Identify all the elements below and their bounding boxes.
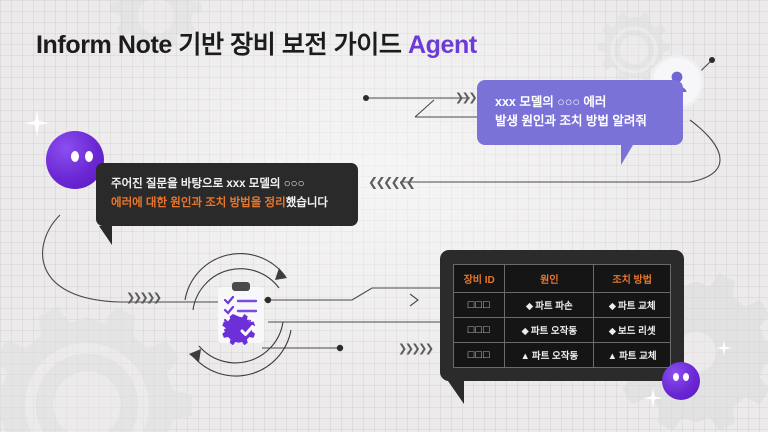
cause-text: 파트 파손 [535, 301, 573, 312]
agent-message-tail-text: 했습니다 [286, 197, 328, 209]
cause-text: 파트 오작동 [532, 351, 578, 362]
agent-message-highlight: 에러에 대한 원인과 조치 방법을 정리 [111, 197, 286, 209]
agent-message-line-1: 주어진 질문을 바탕으로 xxx 모델의 ○○○ [111, 175, 344, 194]
chevron-right-icon: ❯❯❯❯❯ [126, 292, 160, 303]
user-message-bubble: xxx 모델의 ○○○ 에러 발생 원인과 조치 방법 알려줘 [477, 80, 683, 145]
agent-orb-small [662, 362, 700, 400]
cell-action: ▲파트 교체 [594, 343, 671, 368]
table-header-cell: 조치 방법 [594, 265, 671, 293]
chevron-left-icon: ❮❮❮❮❮❮ [368, 176, 413, 188]
bubble-tail [448, 381, 464, 404]
cause-text: 파트 오작동 [531, 326, 577, 337]
action-mark: ◆ [609, 326, 616, 337]
page-title-main: Inform Note 기반 장비 보전 가이드 [36, 31, 408, 59]
orb-eye [673, 373, 679, 381]
action-text: 파트 교체 [618, 301, 656, 312]
orb-eye [683, 373, 689, 381]
agent-message-line-2: 에러에 대한 원인과 조치 방법을 정리했습니다 [111, 194, 344, 213]
action-mark: ▲ [608, 351, 617, 362]
clipboard-checklist-icon [216, 281, 266, 345]
slide-canvas: ❯❯❯ ❮❮❮❮❮❮ ❯❯❯❯❯ ❯❯❯❯❯ Inform Note 기반 장비… [0, 0, 768, 432]
cell-cause: ▲파트 오작동 [505, 343, 594, 368]
orb-eye [85, 151, 93, 162]
bubble-tail [99, 226, 112, 245]
result-table-card: 장비 ID 원인 조치 방법 □□□ ◆파트 파손 ◆파트 교체 □□□ ◆파트… [440, 250, 684, 381]
cell-cause: ◆파트 오작동 [505, 318, 594, 343]
result-table: 장비 ID 원인 조치 방법 □□□ ◆파트 파손 ◆파트 교체 □□□ ◆파트… [453, 264, 671, 368]
cause-mark: ◆ [526, 301, 533, 312]
user-message-line-1: xxx 모델의 ○○○ 에러 [495, 93, 669, 112]
chevron-right-icon: ❯❯❯ [455, 92, 475, 103]
cell-equipment-id: □□□ [454, 343, 505, 368]
cell-cause: ◆파트 파손 [505, 293, 594, 318]
table-header-cell: 원인 [505, 265, 594, 293]
cause-mark: ▲ [520, 351, 529, 362]
action-text: 파트 교체 [619, 351, 657, 362]
cell-equipment-id: □□□ [454, 293, 505, 318]
table-row: □□□ ◆파트 오작동 ◆보드 리셋 [454, 318, 671, 343]
action-text: 보드 리셋 [618, 326, 656, 337]
agent-message-bubble: 주어진 질문을 바탕으로 xxx 모델의 ○○○ 에러에 대한 원인과 조치 방… [96, 163, 358, 226]
chevron-right-icon: ❯❯❯❯❯ [398, 343, 432, 354]
cell-equipment-id: □□□ [454, 318, 505, 343]
cell-action: ◆파트 교체 [594, 293, 671, 318]
action-mark: ◆ [609, 301, 616, 312]
orb-eye [71, 151, 79, 162]
user-message-line-2: 발생 원인과 조치 방법 알려줘 [495, 112, 669, 131]
page-title-accent: Agent [408, 31, 477, 59]
table-row: □□□ ▲파트 오작동 ▲파트 교체 [454, 343, 671, 368]
cause-mark: ◆ [522, 326, 529, 337]
cell-action: ◆보드 리셋 [594, 318, 671, 343]
table-header-row: 장비 ID 원인 조치 방법 [454, 265, 671, 293]
table-row: □□□ ◆파트 파손 ◆파트 교체 [454, 293, 671, 318]
page-title: Inform Note 기반 장비 보전 가이드 Agent [36, 25, 477, 61]
table-header-cell: 장비 ID [454, 265, 505, 293]
bubble-tail [621, 145, 633, 165]
